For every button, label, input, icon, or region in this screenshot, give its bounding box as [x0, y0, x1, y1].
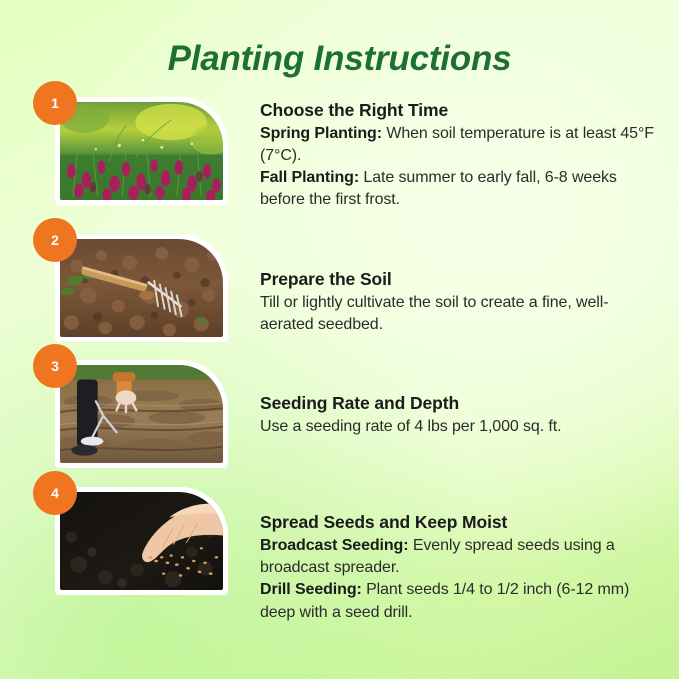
- photo-frame-3: [55, 360, 228, 468]
- step-lines-3: Use a seeding rate of 4 lbs per 1,000 sq…: [260, 416, 655, 438]
- step-body-2: Prepare the Soil Till or lightly cultiva…: [228, 234, 679, 337]
- step-media-3: 3: [55, 360, 228, 468]
- step-heading-2: Prepare the Soil: [260, 268, 655, 291]
- line-text: Till or lightly cultivate the soil to cr…: [260, 294, 608, 333]
- photo-frame-2: [55, 234, 228, 342]
- photo-frame-4: [55, 487, 228, 595]
- line-label: Fall Planting:: [260, 169, 359, 186]
- step-line: Spring Planting: When soil temperature i…: [260, 123, 655, 167]
- step-number-badge-2: 2: [33, 218, 77, 262]
- step-number-badge-4: 4: [33, 471, 77, 515]
- line-label: Drill Seeding:: [260, 581, 362, 598]
- line-label: Broadcast Seeding:: [260, 537, 408, 554]
- hand-sowing-seeds-photo: [60, 492, 223, 590]
- step-body-1: Choose the Right Time Spring Planting: W…: [228, 97, 679, 212]
- page-title: Planting Instructions: [0, 0, 679, 79]
- step-line: Broadcast Seeding: Evenly spread seeds u…: [260, 535, 655, 579]
- step-number-badge-1: 1: [33, 81, 77, 125]
- step-number-badge-3: 3: [33, 344, 77, 388]
- step-media-1: 1: [55, 97, 228, 205]
- step-line: Drill Seeding: Plant seeds 1/4 to 1/2 in…: [260, 579, 655, 623]
- steps-list: 1: [0, 97, 679, 624]
- rake-in-soil-photo: [60, 239, 223, 337]
- step-lines-1: Spring Planting: When soil temperature i…: [260, 123, 655, 211]
- step-body-4: Spread Seeds and Keep Moist Broadcast Se…: [228, 487, 679, 624]
- step-media-4: 4: [55, 487, 228, 595]
- step-line: Use a seeding rate of 4 lbs per 1,000 sq…: [260, 416, 655, 438]
- step-media-2: 2: [55, 234, 228, 342]
- crimson-clover-field-photo: [60, 102, 223, 200]
- planting-instructions-infographic: Planting Instructions 1: [0, 0, 679, 679]
- step-item-3: 3: [0, 360, 679, 468]
- tilling-furrows-photo: [60, 365, 223, 463]
- step-line: Fall Planting: Late summer to early fall…: [260, 167, 655, 211]
- step-body-3: Seeding Rate and Depth Use a seeding rat…: [228, 360, 679, 439]
- step-item-2: 2: [0, 234, 679, 342]
- line-label: Spring Planting:: [260, 125, 382, 142]
- line-text: Use a seeding rate of 4 lbs per 1,000 sq…: [260, 418, 561, 435]
- photo-frame-1: [55, 97, 228, 205]
- step-line: Till or lightly cultivate the soil to cr…: [260, 292, 655, 336]
- step-item-1: 1: [0, 97, 679, 212]
- step-lines-2: Till or lightly cultivate the soil to cr…: [260, 292, 655, 336]
- step-heading-4: Spread Seeds and Keep Moist: [260, 511, 655, 534]
- step-item-4: 4: [0, 487, 679, 624]
- step-lines-4: Broadcast Seeding: Evenly spread seeds u…: [260, 535, 655, 623]
- step-heading-1: Choose the Right Time: [260, 99, 655, 122]
- step-heading-3: Seeding Rate and Depth: [260, 392, 655, 415]
